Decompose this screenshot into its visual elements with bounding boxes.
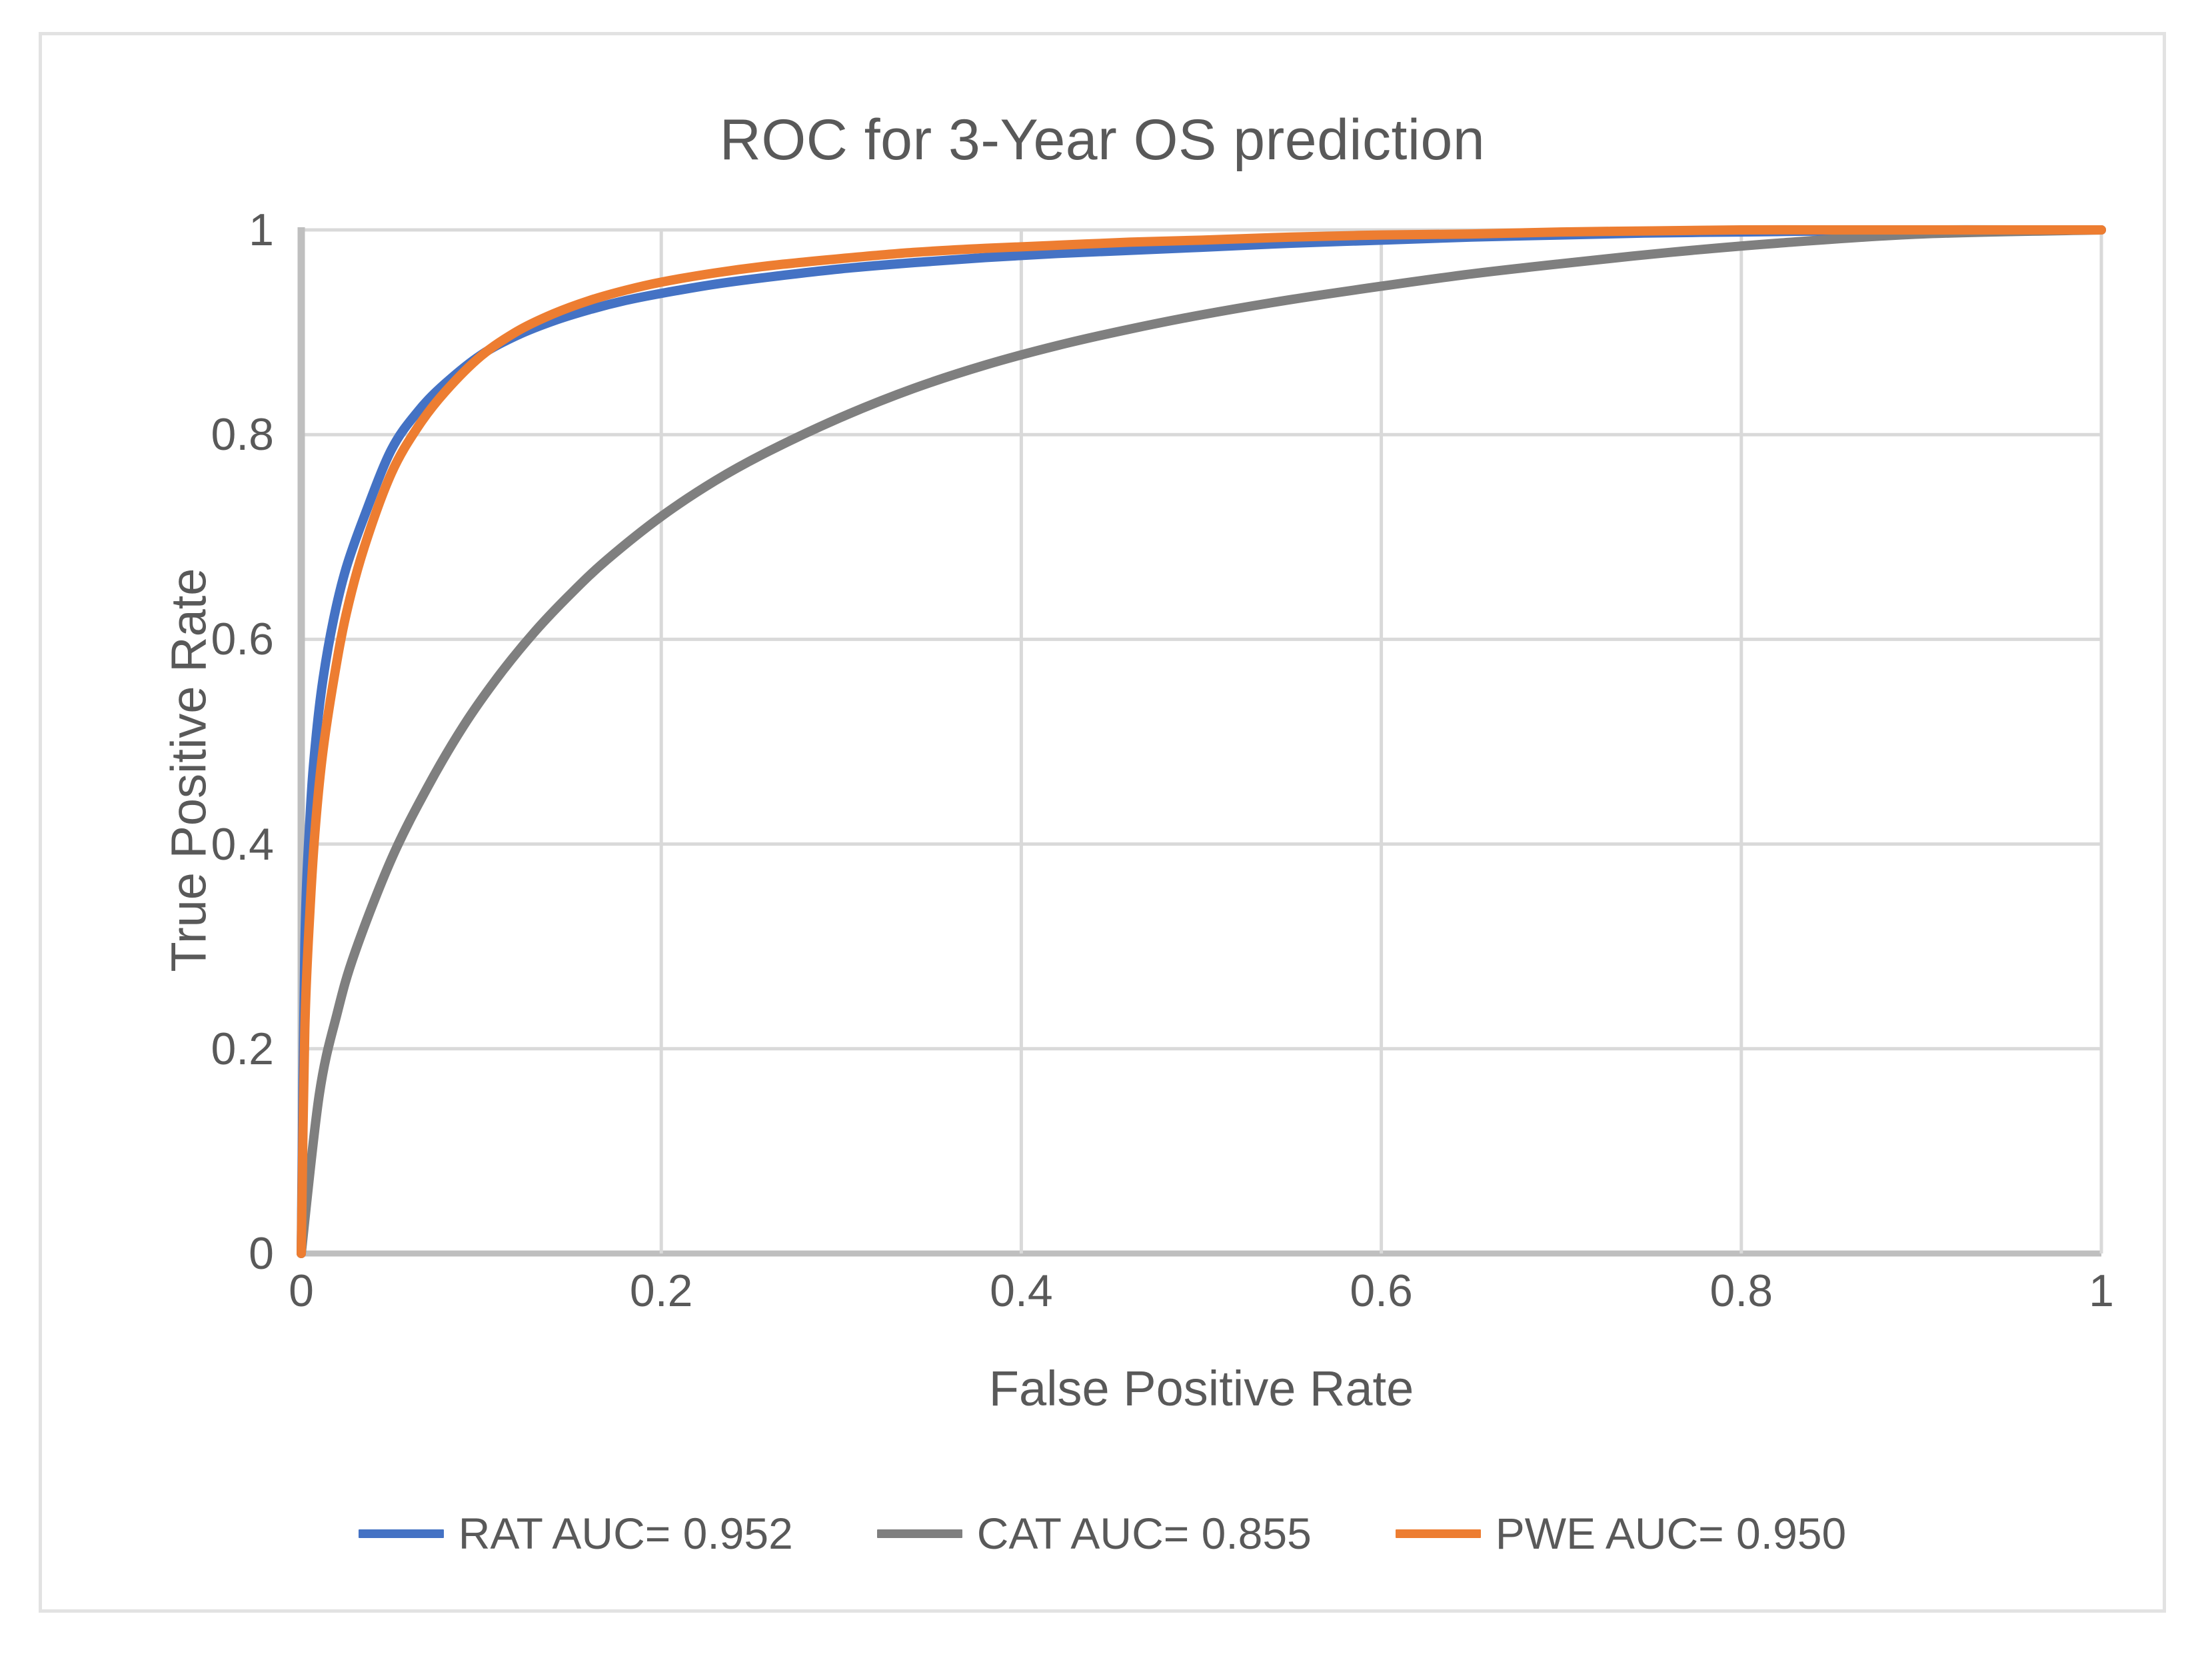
y-axis-title: True Positive Rate	[161, 259, 217, 1282]
x-tick-label: 1	[2001, 1265, 2201, 1317]
gridlines	[301, 230, 2101, 1253]
x-tick-label: 0	[201, 1265, 401, 1317]
x-tick-label: 0.8	[1642, 1265, 1841, 1317]
legend-item[interactable]: PWE AUC= 0.950	[1396, 1508, 1846, 1559]
x-tick-label: 0.4	[921, 1265, 1121, 1317]
roc-plot-svg	[301, 230, 2101, 1253]
roc-curve-rat	[301, 230, 2101, 1253]
legend-color-swatch	[359, 1529, 444, 1538]
y-tick-label: 1	[54, 204, 274, 256]
legend-item-label: RAT AUC= 0.952	[459, 1508, 793, 1559]
chart-title: ROC for 3-Year OS prediction	[42, 107, 2163, 173]
legend-item-label: CAT AUC= 0.855	[977, 1508, 1312, 1559]
series-curves	[301, 230, 2101, 1253]
legend-item-label: PWE AUC= 0.950	[1496, 1508, 1846, 1559]
roc-curve-cat	[301, 230, 2101, 1253]
legend-item[interactable]: CAT AUC= 0.855	[877, 1508, 1312, 1559]
x-tick-label: 0.6	[1282, 1265, 1482, 1317]
legend-color-swatch	[1396, 1529, 1481, 1538]
legend-item[interactable]: RAT AUC= 0.952	[359, 1508, 793, 1559]
x-axis-title: False Positive Rate	[301, 1360, 2101, 1417]
chart-frame: ROC for 3-Year OS prediction 00.20.40.60…	[39, 32, 2166, 1613]
plot-area	[301, 230, 2101, 1253]
legend-color-swatch	[877, 1529, 962, 1538]
roc-curve-pwe	[301, 230, 2101, 1253]
chart-legend: RAT AUC= 0.952CAT AUC= 0.855PWE AUC= 0.9…	[42, 1508, 2163, 1559]
x-tick-label: 0.2	[561, 1265, 761, 1317]
